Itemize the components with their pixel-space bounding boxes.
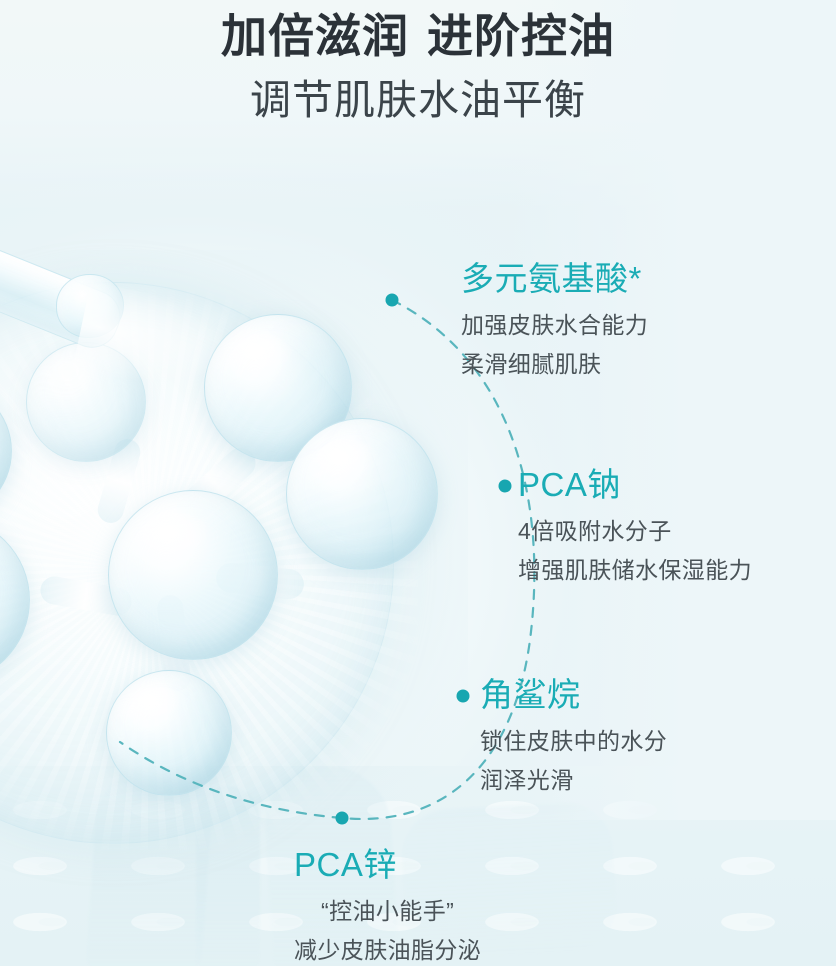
callout-zinc-pca: PCA锌 “控油小能手” 减少皮肤油脂分泌 — [294, 845, 481, 966]
title-part-1: 加倍滋润 — [221, 10, 409, 62]
infographic-page: 加倍滋润进阶控油 调节肌肤水油平衡 多元氨基酸* 加强皮肤水合能力 柔滑细腻肌肤… — [0, 0, 836, 966]
callout-squalane: 角鲨烷 锁住皮肤中的水分 润泽光滑 — [480, 675, 667, 797]
header: 加倍滋润进阶控油 调节肌肤水油平衡 — [0, 0, 836, 125]
dot-marker-2 — [499, 480, 512, 493]
callout-title: 多元氨基酸* — [461, 259, 648, 299]
page-subtitle: 调节肌肤水油平衡 — [0, 76, 836, 125]
callout-multi-amino-acid: 多元氨基酸* 加强皮肤水合能力 柔滑细腻肌肤 — [461, 259, 648, 381]
callout-line-2: 柔滑细腻肌肤 — [461, 348, 648, 381]
callout-sodium-pca: PCA钠 4倍吸附水分子 增强肌肤储水保湿能力 — [518, 465, 752, 587]
dot-marker-3 — [457, 690, 470, 703]
callout-title: PCA钠 — [518, 465, 752, 505]
callout-line-2: 润泽光滑 — [480, 764, 667, 797]
callout-title: PCA锌 — [294, 845, 481, 885]
callout-line-1: “控油小能手” — [294, 895, 481, 928]
callout-line-1: 锁住皮肤中的水分 — [480, 725, 667, 758]
callout-line-2: 减少皮肤油脂分泌 — [294, 934, 481, 966]
dot-marker-4 — [336, 812, 349, 825]
callout-line-1: 4倍吸附水分子 — [518, 515, 752, 548]
callout-line-2: 增强肌肤储水保湿能力 — [518, 554, 752, 587]
callout-line-1: 加强皮肤水合能力 — [461, 309, 648, 342]
title-part-2: 进阶控油 — [427, 10, 615, 62]
callout-title: 角鲨烷 — [480, 675, 667, 715]
dot-marker-1 — [386, 294, 399, 307]
page-title: 加倍滋润进阶控油 — [0, 0, 836, 66]
